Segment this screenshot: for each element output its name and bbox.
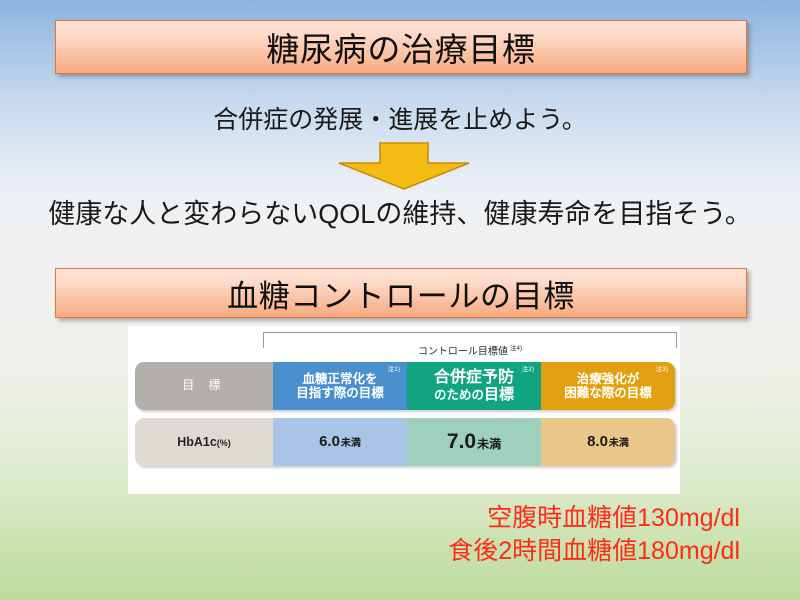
value-3-number: 8.0 [587,433,608,450]
hba1c-unit: (%) [217,438,231,448]
table-value-row: HbA1c(%) 6.0未満 7.0未満 8.0未満 [135,418,675,466]
bracket-label-note: 注4) [510,345,522,352]
header-cell-1-line1: 血糖正常化を [302,372,377,386]
value-1-suffix: 未満 [341,438,361,449]
value-cell-complication-prevention: 7.0未満 [407,418,541,466]
section-title-text: 血糖コントロールの目標 [227,271,575,316]
page-title-text: 糖尿病の治療目標 [266,23,535,71]
header-cell-intensification-difficult: 注3) 治療強化が 困難な際の目標 [541,362,675,410]
header-cell-2-line1: 合併症予防 [434,369,514,387]
header-note-1: 注1) [388,366,400,373]
page-title: 糖尿病の治療目標 [55,20,747,74]
value-3-suffix: 未満 [609,438,629,449]
footnote-fasting-glucose: 空腹時血糖値130mg/dl [0,502,740,535]
hba1c-label: HbA1c(%) [177,435,231,449]
hba1c-label-text: HbA1c [177,435,217,449]
footnote-postprandial-glucose: 食後2時間血糖値180mg/dl [0,535,740,568]
header-cell-2-line2-bold: 目標 [484,386,514,403]
value-3: 8.0未満 [587,434,629,451]
blood-glucose-footnotes: 空腹時血糖値130mg/dl 食後2時間血糖値180mg/dl [0,502,740,568]
bracket-label: コントロール目標値注4) [263,342,677,357]
header-cell-2-line2: のための目標 [434,387,514,404]
value-2-suffix: 未満 [477,437,501,451]
slide-canvas: 糖尿病の治療目標 合併症の発展・進展を止めよう。 健康な人と変わらないQOLの維… [0,0,800,600]
header-cell-3-line1: 治療強化が [577,372,640,386]
header-cell-2-line2-prefix: のための [434,388,484,402]
header-cell-1-line2: 目指す際の目標 [296,386,384,400]
statement-line-2: 健康な人と変わらないQOLの維持、健康寿命を目指そう。 [0,192,800,231]
value-2-number: 7.0 [447,430,476,453]
section-title: 血糖コントロールの目標 [55,268,747,318]
value-cell-normalization: 6.0未満 [273,418,407,466]
table-header-row: 目 標 注1) 血糖正常化を 目指す際の目標 注2) 合併症予防 のための目標 … [135,362,675,410]
header-cell-complication-prevention: 注2) 合併症予防 のための目標 [407,362,541,410]
header-note-3: 注3) [656,366,668,373]
statement-line-1: 合併症の発展・進展を止めよう。 [0,100,800,136]
header-cell-row-label: 目 標 [135,362,273,410]
value-1-number: 6.0 [319,433,340,450]
header-row-label-text: 目 標 [182,379,226,392]
glycemic-target-table: コントロール目標値注4) 目 標 注1) 血糖正常化を 目指す際の目標 注2) … [128,326,680,494]
header-cell-3-line2: 困難な際の目標 [564,386,652,400]
down-arrow-icon [338,142,470,190]
value-2: 7.0未満 [447,430,501,454]
value-cell-row-label: HbA1c(%) [135,418,273,466]
header-cell-normalization: 注1) 血糖正常化を 目指す際の目標 [273,362,407,410]
value-cell-intensification-difficult: 8.0未満 [541,418,675,466]
value-1: 6.0未満 [319,434,361,451]
header-note-2: 注2) [522,366,534,373]
bracket-label-text: コントロール目標値 [418,346,508,357]
